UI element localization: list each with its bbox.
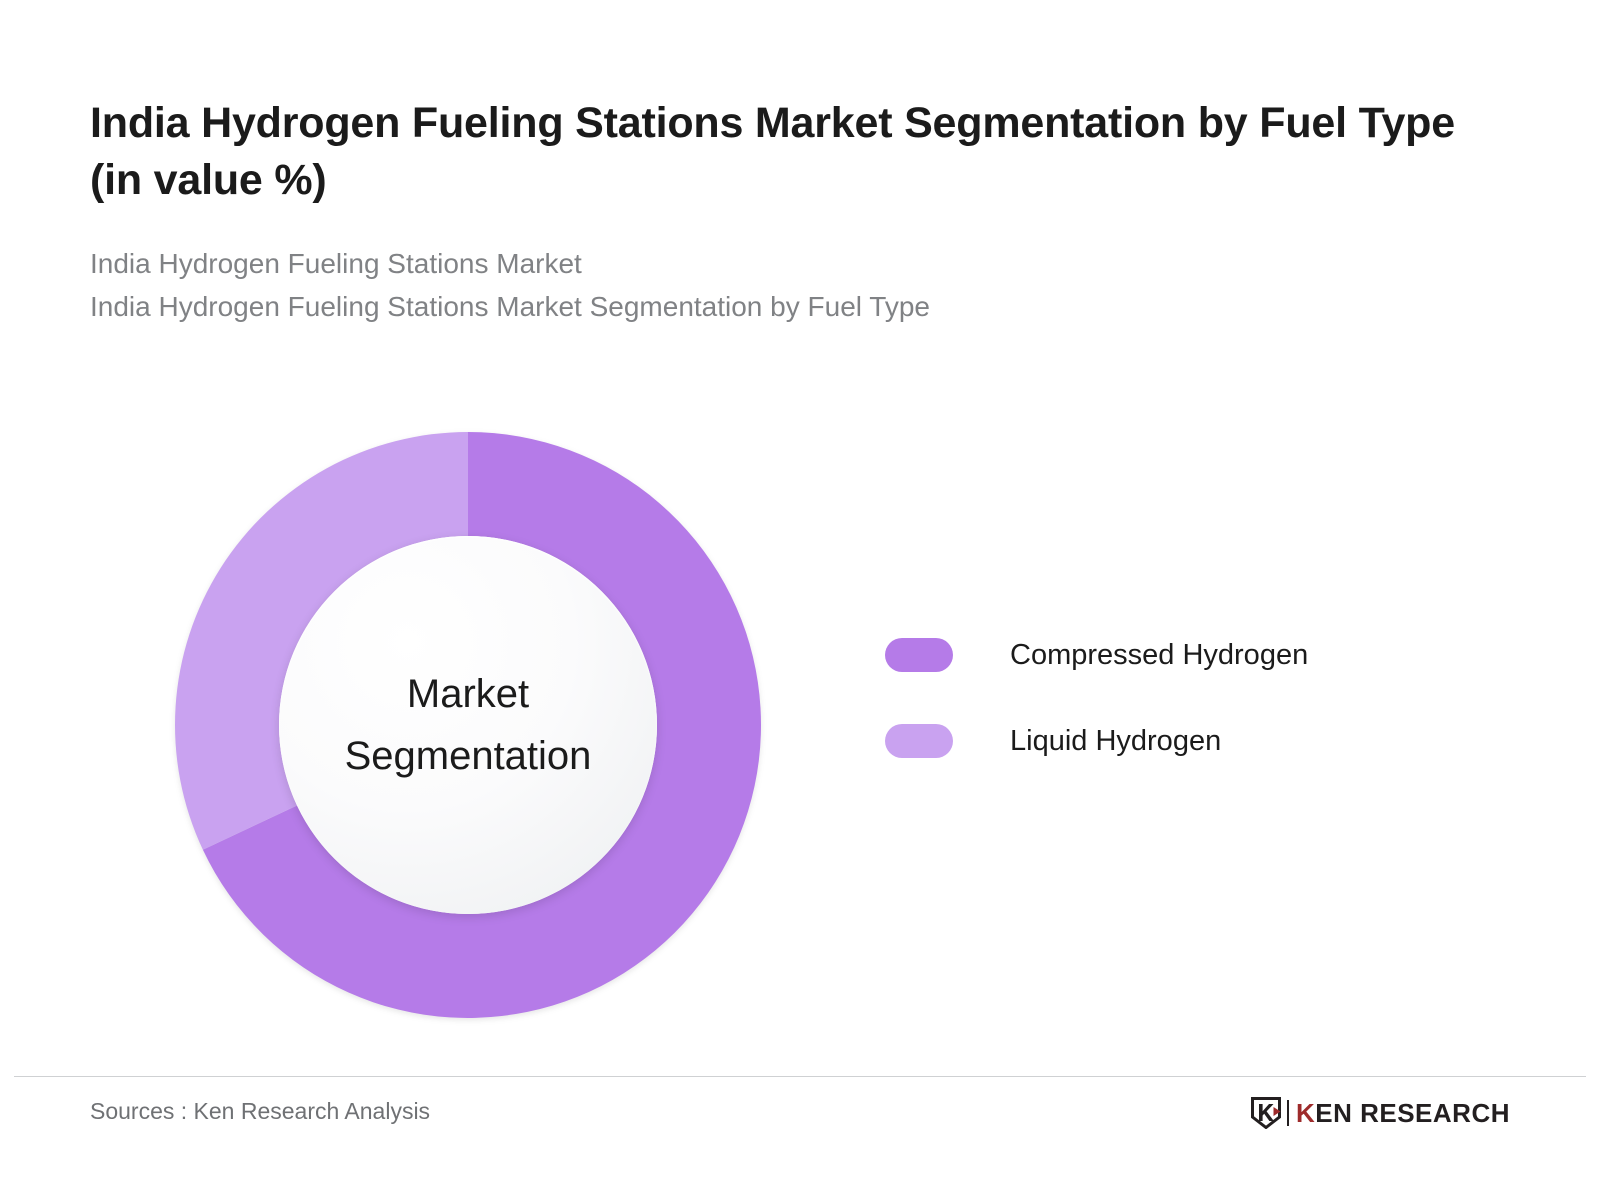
chart-legend: Compressed Hydrogen Liquid Hydrogen <box>885 612 1505 784</box>
subtitle-line-1: India Hydrogen Fueling Stations Market <box>90 242 1490 285</box>
page-title: India Hydrogen Fueling Stations Market S… <box>90 95 1510 209</box>
legend-swatch-icon-compressed-hydrogen <box>885 638 953 672</box>
donut-center-label: Market Segmentation <box>279 536 657 914</box>
legend-item-liquid-hydrogen[interactable]: Liquid Hydrogen <box>885 698 1505 784</box>
ken-research-shield-icon <box>1251 1097 1281 1129</box>
donut-center-line-1: Market <box>407 663 529 725</box>
chart-page: India Hydrogen Fueling Stations Market S… <box>0 0 1600 1200</box>
page-subtitle: India Hydrogen Fueling Stations Market I… <box>90 242 1490 329</box>
logo-divider <box>1287 1100 1289 1126</box>
legend-label-liquid-hydrogen: Liquid Hydrogen <box>1010 725 1221 758</box>
sources-text: Sources : Ken Research Analysis <box>90 1098 430 1125</box>
logo-wordmark-rest: EN RESEARCH <box>1315 1098 1510 1128</box>
donut-graphic: Market Segmentation <box>175 432 761 1018</box>
donut-chart: Market Segmentation <box>0 360 860 1080</box>
footer-divider <box>14 1076 1586 1077</box>
legend-swatch-icon-liquid-hydrogen <box>885 724 953 758</box>
donut-center-line-2: Segmentation <box>345 725 592 787</box>
legend-label-compressed-hydrogen: Compressed Hydrogen <box>1010 639 1308 672</box>
logo-wordmark-first-letter: K <box>1296 1098 1315 1128</box>
subtitle-line-2: India Hydrogen Fueling Stations Market S… <box>90 285 1490 328</box>
logo-wordmark: KEN RESEARCH <box>1296 1098 1510 1129</box>
legend-item-compressed-hydrogen[interactable]: Compressed Hydrogen <box>885 612 1505 698</box>
ken-research-logo: KEN RESEARCH <box>1251 1096 1510 1130</box>
